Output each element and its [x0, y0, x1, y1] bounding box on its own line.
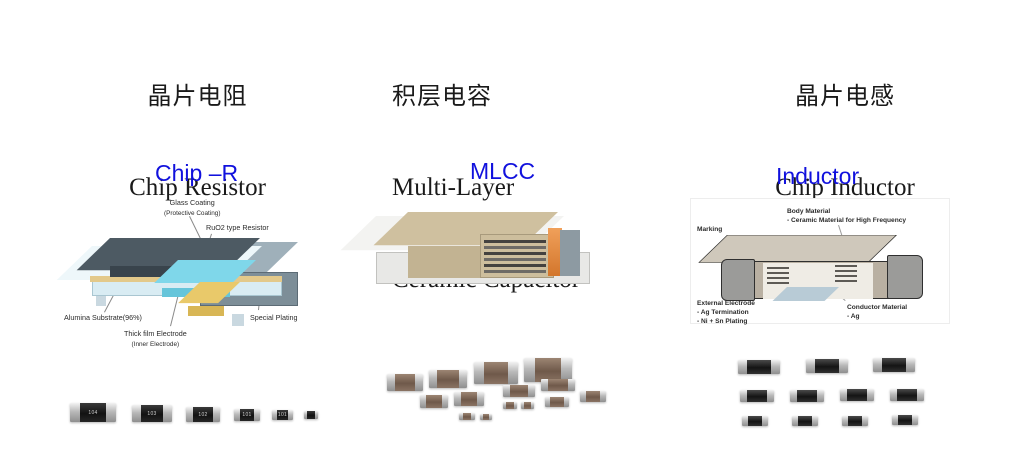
mlcc-sample — [521, 402, 534, 409]
terminal-left — [503, 385, 510, 397]
terminal-right — [514, 402, 517, 409]
terminal-left — [429, 370, 437, 388]
inductor-coil-turn — [767, 277, 789, 279]
inductor-body — [815, 359, 839, 373]
mlcc-body — [461, 392, 478, 406]
terminal-left — [387, 374, 395, 391]
label-body-material: Body Material - Ceramic Material for Hig… — [787, 207, 906, 225]
mlcc-sample — [580, 391, 606, 402]
chip-inductor-sample — [792, 416, 818, 426]
inductor-body — [748, 416, 763, 426]
terminal-right — [315, 411, 318, 419]
chip-inductor-sample — [842, 416, 868, 426]
terminal-right — [508, 362, 518, 384]
terminal-left — [132, 405, 141, 422]
terminal-left — [541, 379, 548, 391]
mlcc-electrode-layer — [484, 240, 546, 243]
terminal-right — [531, 402, 534, 409]
inductor-body — [798, 416, 813, 426]
mlcc-sample — [387, 374, 423, 391]
terminal-right — [862, 416, 868, 426]
terminal-right — [906, 358, 915, 372]
terminal-right — [442, 395, 448, 408]
terminal-right — [254, 409, 260, 421]
inductor-body — [747, 390, 766, 402]
terminal-left — [790, 390, 797, 402]
resistor-code: 103 — [141, 411, 163, 417]
terminal-right — [528, 385, 535, 397]
inductor-body — [897, 389, 916, 401]
chip-inductor-sample — [742, 416, 768, 426]
mlcc-sample — [545, 397, 569, 407]
resistor-foot-right — [232, 314, 244, 326]
terminal-left — [806, 359, 815, 373]
mlcc-cutaway-diagram — [368, 212, 608, 320]
mlcc-sample — [454, 392, 484, 406]
resistor-body: 101 — [277, 410, 289, 420]
inductor-3d-body — [717, 233, 927, 301]
mlcc-sample — [541, 379, 575, 391]
terminal-right — [812, 416, 818, 426]
resistor-body: 103 — [141, 405, 163, 422]
mlcc-body — [483, 414, 490, 420]
mlcc-body — [510, 385, 528, 397]
inductor-body — [747, 360, 771, 374]
chip-inductor-sample — [840, 389, 874, 401]
heading-chip-inductor-cn: 晶片电感 — [680, 83, 1010, 112]
inductor-body — [848, 416, 863, 426]
mlcc-sample — [480, 414, 492, 420]
mlcc-sample — [459, 413, 475, 420]
blue-label-mlcc: MLCC — [470, 158, 535, 185]
inductor-coil-turn — [767, 272, 789, 274]
inductor-electrode-right — [887, 255, 923, 299]
terminal-left — [740, 390, 747, 402]
terminal-right — [471, 413, 475, 420]
inductor-coil-turn — [767, 267, 789, 269]
terminal-right — [867, 389, 874, 401]
terminal-left — [873, 358, 882, 372]
inductor-body — [898, 415, 913, 425]
terminal-left — [70, 403, 80, 422]
inductor-coil-turn — [835, 280, 857, 282]
chip-inductor-sample — [890, 389, 924, 401]
resistor-body: 101 — [240, 409, 255, 421]
chip-inductor-sample — [740, 390, 774, 402]
mlcc-electrode-layer — [484, 252, 546, 255]
label-thick-film-electrode: Thick film Electrode (Inner Electrode) — [124, 329, 187, 349]
terminal-left — [738, 360, 747, 374]
terminal-right — [489, 414, 492, 420]
chip-inductor-cutaway-diagram: Marking Body Material - Ceramic Material… — [690, 198, 950, 324]
heading-chip-resistor-cn: 晶片电阻 — [0, 83, 395, 112]
chip-resistor-sample — [304, 411, 318, 419]
inductor-body — [847, 389, 866, 401]
mlcc-body — [506, 402, 514, 409]
terminal-left — [524, 358, 535, 382]
inductor-electrode-left — [721, 259, 755, 301]
mlcc-electrode-layer — [484, 246, 546, 249]
resistor-body: 102 — [193, 407, 212, 422]
mlcc-electrode-layer — [484, 264, 546, 267]
terminal-right — [917, 389, 924, 401]
terminal-right — [459, 370, 467, 388]
chip-inductor-sample — [892, 415, 918, 425]
mlcc-sample — [503, 402, 517, 409]
resistor-code: 102 — [193, 412, 212, 418]
mlcc-body — [395, 374, 415, 391]
resistor-code: 104 — [80, 410, 106, 416]
mlcc-sample — [429, 370, 467, 388]
mlcc-sample — [474, 362, 518, 384]
chip-inductor-sample — [790, 390, 824, 402]
mlcc-body — [426, 395, 442, 408]
inductor-body — [882, 358, 906, 372]
label-conductor-material: Conductor Material - Ag — [847, 303, 907, 321]
chip-resistor-sample: 102 — [186, 407, 220, 422]
chip-inductor-sample — [806, 359, 848, 373]
terminal-right — [568, 379, 575, 391]
resistor-code: 101 — [277, 412, 289, 418]
inductor-coil-turn — [835, 270, 857, 272]
terminal-right — [288, 410, 293, 420]
heading-mlcc-cn: 积层电容 — [392, 83, 722, 112]
inductor-coil-turn — [767, 282, 789, 284]
mlcc-body — [463, 413, 472, 420]
terminal-right — [771, 360, 780, 374]
terminal-right — [163, 405, 172, 422]
resistor-body: 104 — [80, 403, 106, 422]
terminal-right — [767, 390, 774, 402]
mlcc-body — [548, 379, 567, 391]
inductor-coil-turn — [835, 275, 857, 277]
terminal-right — [106, 403, 116, 422]
mlcc-body — [586, 391, 601, 402]
mlcc-body — [524, 402, 531, 409]
mlcc-electrode-layer — [484, 270, 546, 273]
label-glass-coating: Glass Coating (Protective Coating) — [164, 198, 220, 218]
mlcc-sample — [420, 395, 448, 408]
chip-resistor-sample: 104 — [70, 403, 116, 422]
terminal-right — [564, 397, 569, 407]
chip-inductor-sample — [873, 358, 915, 372]
resistor-3d-body — [82, 236, 312, 316]
mlcc-electrode-layer — [484, 258, 546, 261]
mlcc-body — [484, 362, 509, 384]
mlcc-body — [437, 370, 458, 388]
chip-resistor-sample: 101 — [234, 409, 260, 421]
terminal-right — [912, 415, 918, 425]
component-overview-slide: 晶片电阻 Chip Resistor 积层电容 Multi-Layer Cera… — [0, 0, 1014, 456]
terminal-right — [477, 392, 484, 406]
inductor-coil-turn — [835, 265, 857, 267]
terminal-left — [474, 362, 484, 384]
terminal-left — [840, 389, 847, 401]
blue-label-inductor: Inductor — [776, 163, 859, 190]
terminal-right — [839, 359, 848, 373]
terminal-left — [186, 407, 193, 422]
label-external-electrode: External Electrode - Ag Termination - Ni… — [697, 299, 755, 327]
chip-resistor-cutaway-diagram: Glass Coating (Protective Coating) RuO2 … — [62, 196, 362, 346]
terminal-left — [454, 392, 461, 406]
inductor-body — [797, 390, 816, 402]
mlcc-sample — [503, 385, 535, 397]
blue-label-chip-r: Chip –R — [155, 160, 238, 187]
terminal-left — [890, 389, 897, 401]
chip-inductor-sample — [738, 360, 780, 374]
chip-resistor-sample: 101 — [272, 410, 293, 420]
terminal-right — [213, 407, 220, 422]
resistor-code: 101 — [240, 412, 255, 418]
heading-mlcc-en-line1: Multi-Layer — [392, 173, 722, 204]
terminal-right — [600, 391, 606, 402]
terminal-right — [817, 390, 824, 402]
thick-film-electrode-side-face — [188, 306, 224, 316]
mlcc-outer-termination — [560, 230, 580, 276]
mlcc-body — [550, 397, 563, 407]
resistor-body — [307, 411, 315, 419]
label-ruo2-resistor: RuO2 type Resistor — [206, 223, 269, 233]
terminal-right — [415, 374, 423, 391]
terminal-right — [762, 416, 768, 426]
chip-resistor-sample: 103 — [132, 405, 172, 422]
resistor-foot-left — [96, 296, 106, 306]
